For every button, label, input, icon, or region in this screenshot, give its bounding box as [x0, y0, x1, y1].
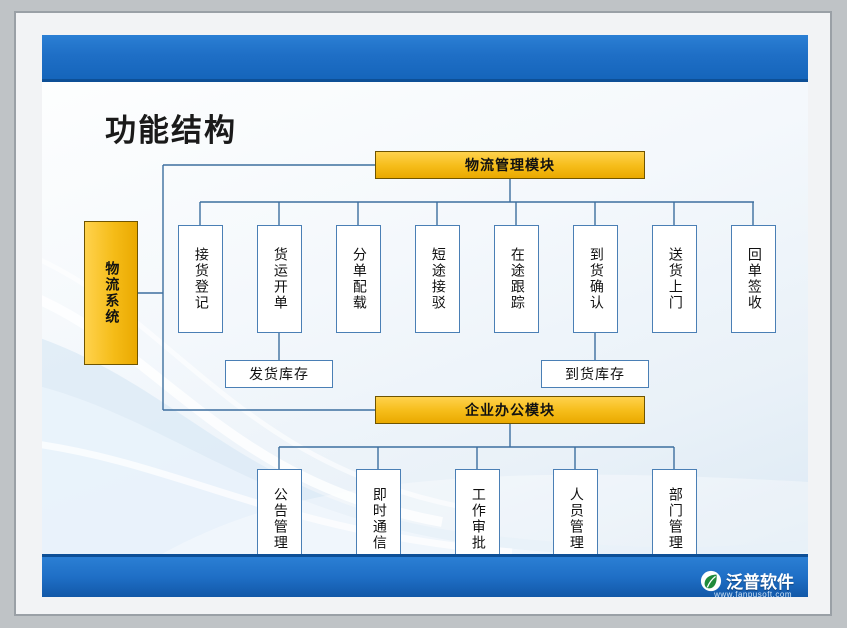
slide-bottom-band: 泛普软件 www.fanpusoft.com — [42, 557, 808, 597]
leaf-node-label: 送货上门 — [667, 247, 682, 311]
module-enterprise-office-label: 企业办公模块 — [465, 400, 555, 420]
slide-canvas: 功能结构 — [42, 35, 808, 597]
root-node-logistics-system[interactable]: 物流系统 — [84, 221, 138, 365]
leaf-node-duantu-jieboo[interactable]: 短途接驳 — [415, 225, 460, 333]
brand-url: www.fanpusoft.com — [714, 590, 792, 597]
page-title: 功能结构 — [105, 105, 237, 150]
leaf-node-fendan-peizai[interactable]: 分单配载 — [336, 225, 381, 333]
leaf-node-zaitu-genzong[interactable]: 在途跟踪 — [494, 225, 539, 333]
leaf-node-label: 工作审批 — [470, 487, 485, 551]
leaf-node-label: 部门管理 — [667, 487, 682, 551]
sub-node-daohuo-kucun[interactable]: 到货库存 — [541, 360, 649, 388]
leaf-node-huoyun-kaidan[interactable]: 货运开单 — [257, 225, 302, 333]
module-logistics-management-label: 物流管理模块 — [465, 155, 555, 175]
leaf-node-label: 到货确认 — [588, 247, 603, 311]
module-logistics-management[interactable]: 物流管理模块 — [375, 151, 645, 179]
root-node-label: 物流系统 — [104, 261, 119, 325]
leaf-node-label: 回单签收 — [746, 247, 761, 311]
leaf-node-huidan-qianshou[interactable]: 回单签收 — [731, 225, 776, 333]
leaf-node-daohuo-queren[interactable]: 到货确认 — [573, 225, 618, 333]
leaf-node-label: 接货登记 — [193, 247, 208, 311]
leaf-logo-icon — [700, 570, 722, 592]
sub-node-label: 到货库存 — [565, 364, 625, 384]
leaf-node-label: 货运开单 — [272, 247, 287, 311]
leaf-node-label: 即时通信 — [371, 487, 386, 551]
leaf-node-label: 分单配载 — [351, 247, 366, 311]
module-enterprise-office[interactable]: 企业办公模块 — [375, 396, 645, 424]
leaf-node-jiehuo-dengji[interactable]: 接货登记 — [178, 225, 223, 333]
leaf-node-songhuo-shangmen[interactable]: 送货上门 — [652, 225, 697, 333]
leaf-node-label: 短途接驳 — [430, 247, 445, 311]
leaf-node-label: 公告管理 — [272, 487, 287, 551]
sub-node-label: 发货库存 — [249, 364, 309, 384]
leaf-node-label: 在途跟踪 — [509, 247, 524, 311]
leaf-node-label: 人员管理 — [568, 487, 583, 551]
slide-top-band — [42, 35, 808, 79]
sub-node-fahuo-kucun[interactable]: 发货库存 — [225, 360, 333, 388]
window-frame: 功能结构 — [14, 11, 832, 616]
